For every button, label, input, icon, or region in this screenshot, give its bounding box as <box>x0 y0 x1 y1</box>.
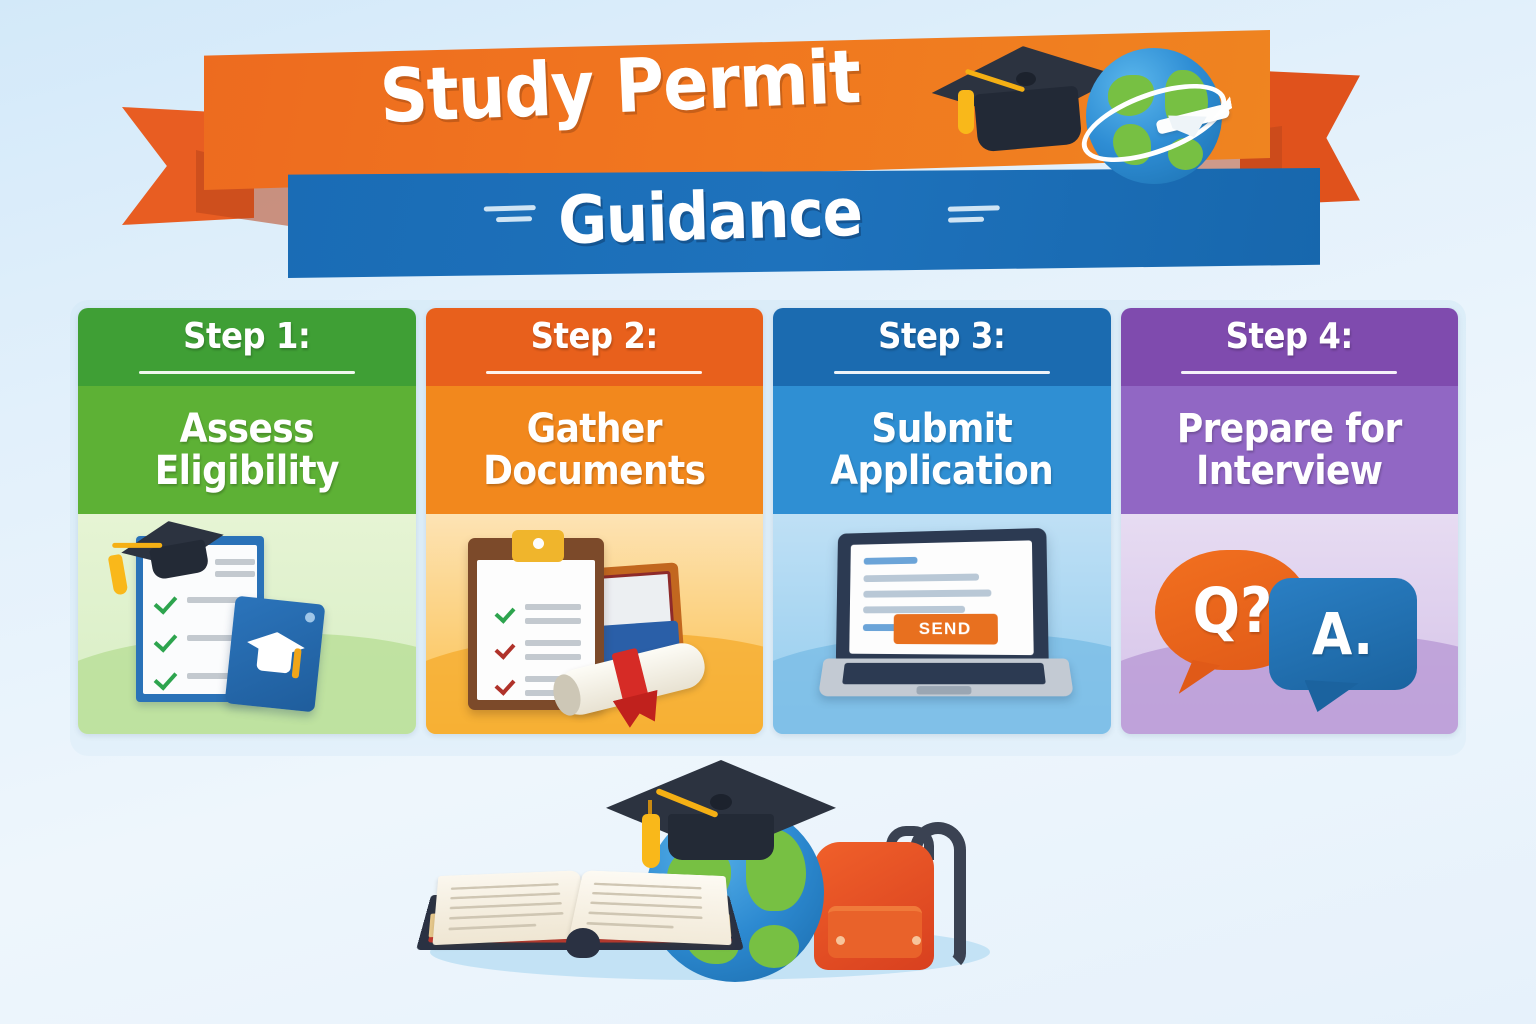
step-4-underline <box>1181 371 1397 374</box>
step-3-title: Submit Application <box>779 408 1105 493</box>
laptop-icon: SEND <box>821 530 1071 710</box>
step-2-label: Step 2: <box>531 316 658 357</box>
step-2-title-band: Gather Documents <box>426 386 764 514</box>
step-4-title: Prepare for Interview <box>1127 408 1453 493</box>
step-3-title-band: Submit Application <box>773 386 1111 514</box>
send-button-label: SEND <box>919 619 972 639</box>
step-1-illustration <box>78 514 416 734</box>
step-3-illustration: SEND <box>773 514 1111 734</box>
header-banner: Study Permit Guidance <box>0 0 1536 300</box>
decorative-dashes-right <box>948 205 1001 228</box>
step-2-title: Gather Documents <box>432 408 758 493</box>
step-4-label: Step 4: <box>1226 316 1353 357</box>
step-3-label: Step 3: <box>878 316 1005 357</box>
globe-icon <box>1086 48 1222 184</box>
answer-bubble-icon: A. <box>1269 578 1417 690</box>
step-2-illustration <box>426 514 764 734</box>
footer-illustration <box>420 760 1000 990</box>
step-1-underline <box>139 371 355 374</box>
question-bubble-label: Q? <box>1193 574 1273 647</box>
step-card-2[interactable]: Step 2: Gather Documents <box>426 308 764 734</box>
step-4-title-band: Prepare for Interview <box>1121 386 1459 514</box>
step-4-illustration: Q? A. <box>1121 514 1459 734</box>
open-book-icon <box>420 856 740 964</box>
step-1-header: Step 1: <box>78 308 416 386</box>
step-2-underline <box>486 371 702 374</box>
step-3-underline <box>834 371 1050 374</box>
step-3-header: Step 3: <box>773 308 1111 386</box>
step-4-header: Step 4: <box>1121 308 1459 386</box>
application-form-screen: SEND <box>849 540 1033 655</box>
step-2-header: Step 2: <box>426 308 764 386</box>
airplane-icon <box>1144 96 1230 142</box>
step-1-title-band: Assess Eligibility <box>78 386 416 514</box>
step-card-3[interactable]: Step 3: Submit Application SEND <box>773 308 1111 734</box>
decorative-dashes-left <box>470 205 537 229</box>
steps-container: Step 1: Assess Eligibility <box>70 300 1466 756</box>
step-card-4[interactable]: Step 4: Prepare for Interview Q? A. <box>1121 308 1459 734</box>
answer-bubble-label: A. <box>1312 600 1373 668</box>
student-id-card-icon <box>225 596 326 713</box>
step-1-label: Step 1: <box>183 316 310 357</box>
send-button[interactable]: SEND <box>894 614 998 645</box>
step-1-title: Assess Eligibility <box>84 408 410 493</box>
step-card-1[interactable]: Step 1: Assess Eligibility <box>78 308 416 734</box>
